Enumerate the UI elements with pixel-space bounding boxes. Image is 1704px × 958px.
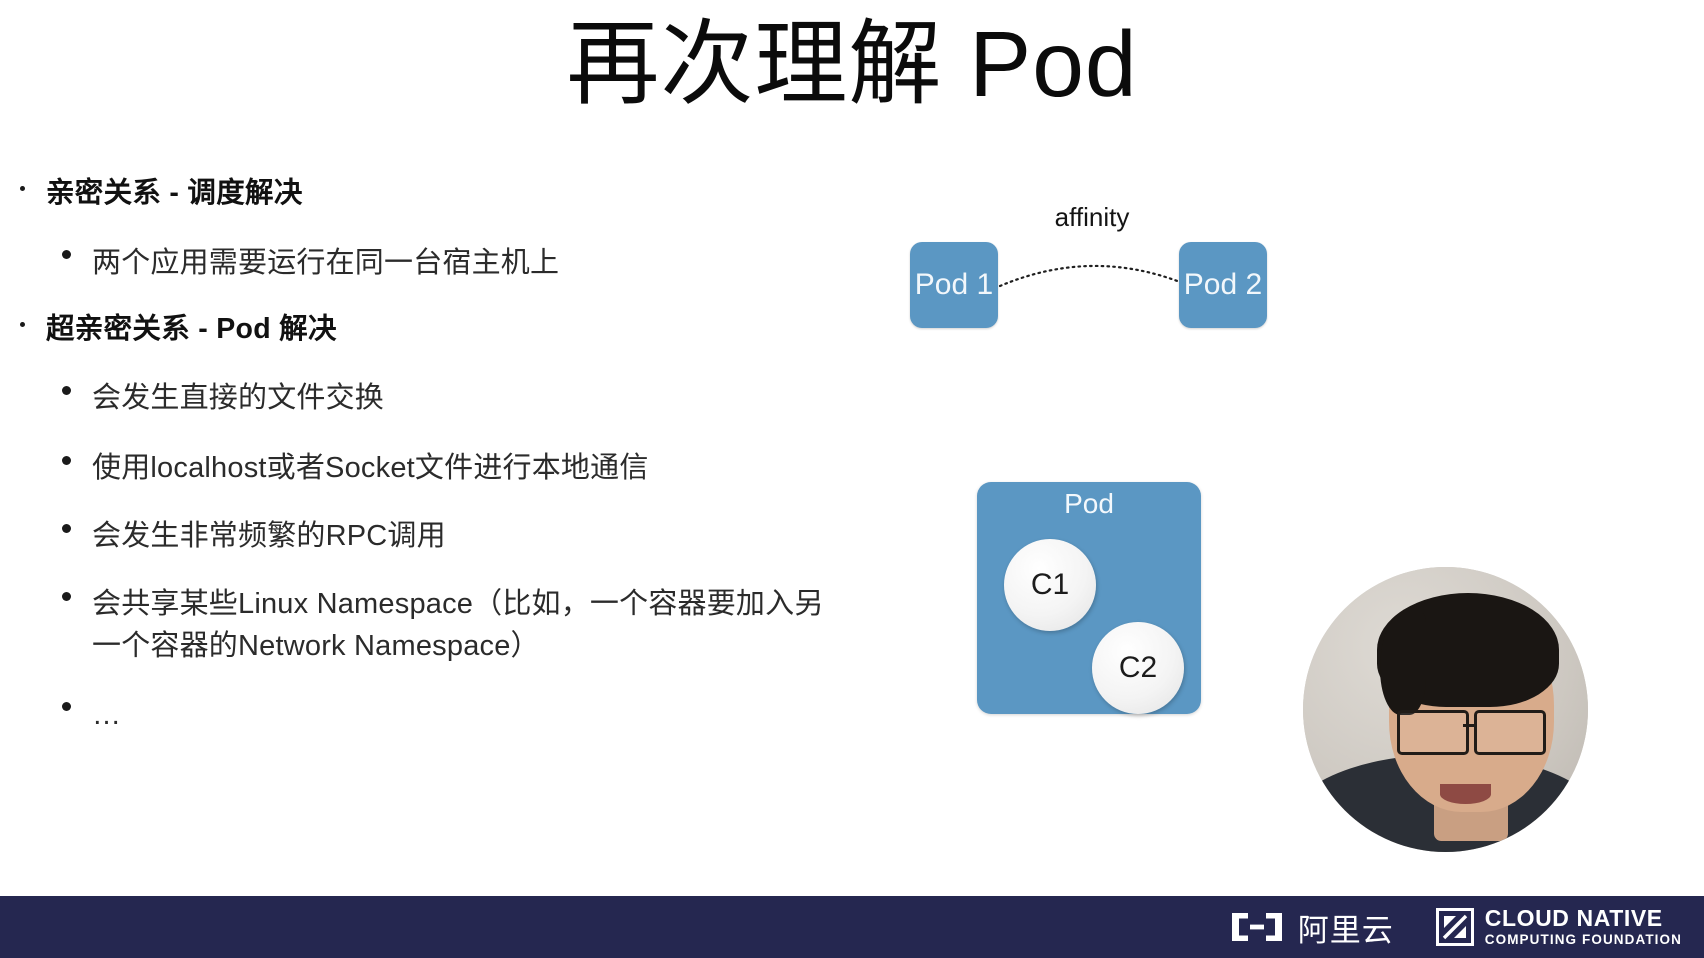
cncf-subtitle: COMPUTING FOUNDATION <box>1485 933 1682 947</box>
cncf-logo-text: CLOUD NATIVE COMPUTING FOUNDATION <box>1485 907 1682 947</box>
aliyun-logo-text: 阿里云 <box>1298 905 1394 950</box>
affinity-diagram: affinity Pod 1 Pod 2 <box>880 190 1310 360</box>
bullet-list: 亲密关系 - 调度解决 两个应用需要运行在同一台宿主机上 超亲密关系 - Pod… <box>0 176 830 760</box>
list-item-label: 超亲密关系 - Pod 解决 <box>46 313 337 345</box>
cncf-logo: CLOUD NATIVE COMPUTING FOUNDATION <box>1436 907 1682 947</box>
pod-label: Pod <box>977 488 1201 520</box>
container-c1: C1 <box>1004 539 1096 631</box>
list-item-label: 使用localhost或者Socket文件进行本地通信 <box>92 452 649 484</box>
pod-containers-diagram: Pod C1 C2 <box>977 482 1201 714</box>
presenter-video-bubble <box>1303 567 1588 852</box>
pod-2-box: Pod 2 <box>1179 242 1267 328</box>
list-item: 使用localhost或者Socket文件进行本地通信 <box>0 447 830 489</box>
pod-1-box: Pod 1 <box>910 242 998 328</box>
bullet-marker-icon <box>62 702 71 711</box>
bullet-marker-icon <box>20 322 25 327</box>
list-item: 会共享某些Linux Namespace（比如，一个容器要加入另一个容器的Net… <box>0 583 830 667</box>
bullet-marker-icon <box>62 524 71 533</box>
list-item-label: 会发生直接的文件交换 <box>92 382 384 414</box>
list-item-label: 亲密关系 - 调度解决 <box>46 177 303 209</box>
list-item-label: 会发生非常频繁的RPC调用 <box>92 520 446 552</box>
list-item: 会发生直接的文件交换 <box>0 377 830 419</box>
webcam-glasses-right <box>1474 710 1546 756</box>
footer-bar: 阿里云 CLOUD NATIVE COMPUTING FOUNDATION <box>0 896 1704 958</box>
webcam-glasses-left <box>1397 710 1469 756</box>
list-item: … <box>0 694 830 736</box>
list-item-label: 两个应用需要运行在同一台宿主机上 <box>92 247 559 279</box>
aliyun-logo: 阿里云 <box>1229 905 1394 950</box>
list-item-label: … <box>92 699 123 731</box>
bullet-marker-icon <box>62 592 71 601</box>
presentation-slide: 再次理解 Pod 亲密关系 - 调度解决 两个应用需要运行在同一台宿主机上 超亲… <box>0 0 1704 958</box>
bullet-marker-icon <box>62 386 71 395</box>
aliyun-bracket-icon <box>1229 910 1285 944</box>
list-item: 超亲密关系 - Pod 解决 <box>0 312 830 348</box>
pod-1-label: Pod 1 <box>915 268 993 302</box>
webcam-mouth <box>1440 784 1491 804</box>
webcam-hair-side <box>1380 613 1426 716</box>
footer-logos: 阿里云 CLOUD NATIVE COMPUTING FOUNDATION <box>1229 905 1704 950</box>
affinity-label: affinity <box>1012 202 1172 233</box>
container-c2: C2 <box>1092 622 1184 714</box>
webcam-glasses-bridge <box>1463 724 1476 727</box>
list-item: 两个应用需要运行在同一台宿主机上 <box>0 242 830 284</box>
container-c2-label: C2 <box>1119 651 1157 685</box>
cncf-mark-icon <box>1436 908 1474 946</box>
list-item: 亲密关系 - 调度解决 <box>0 176 830 212</box>
bullet-marker-icon <box>62 250 71 259</box>
list-item: 会发生非常频繁的RPC调用 <box>0 515 830 557</box>
bullet-marker-icon <box>20 186 25 191</box>
pod-2-label: Pod 2 <box>1184 268 1262 302</box>
bullet-marker-icon <box>62 456 71 465</box>
cncf-title: CLOUD NATIVE <box>1485 907 1682 930</box>
page-title: 再次理解 Pod <box>0 14 1704 114</box>
container-c1-label: C1 <box>1031 568 1069 602</box>
list-item-label: 会共享某些Linux Namespace（比如，一个容器要加入另一个容器的Net… <box>92 588 824 662</box>
